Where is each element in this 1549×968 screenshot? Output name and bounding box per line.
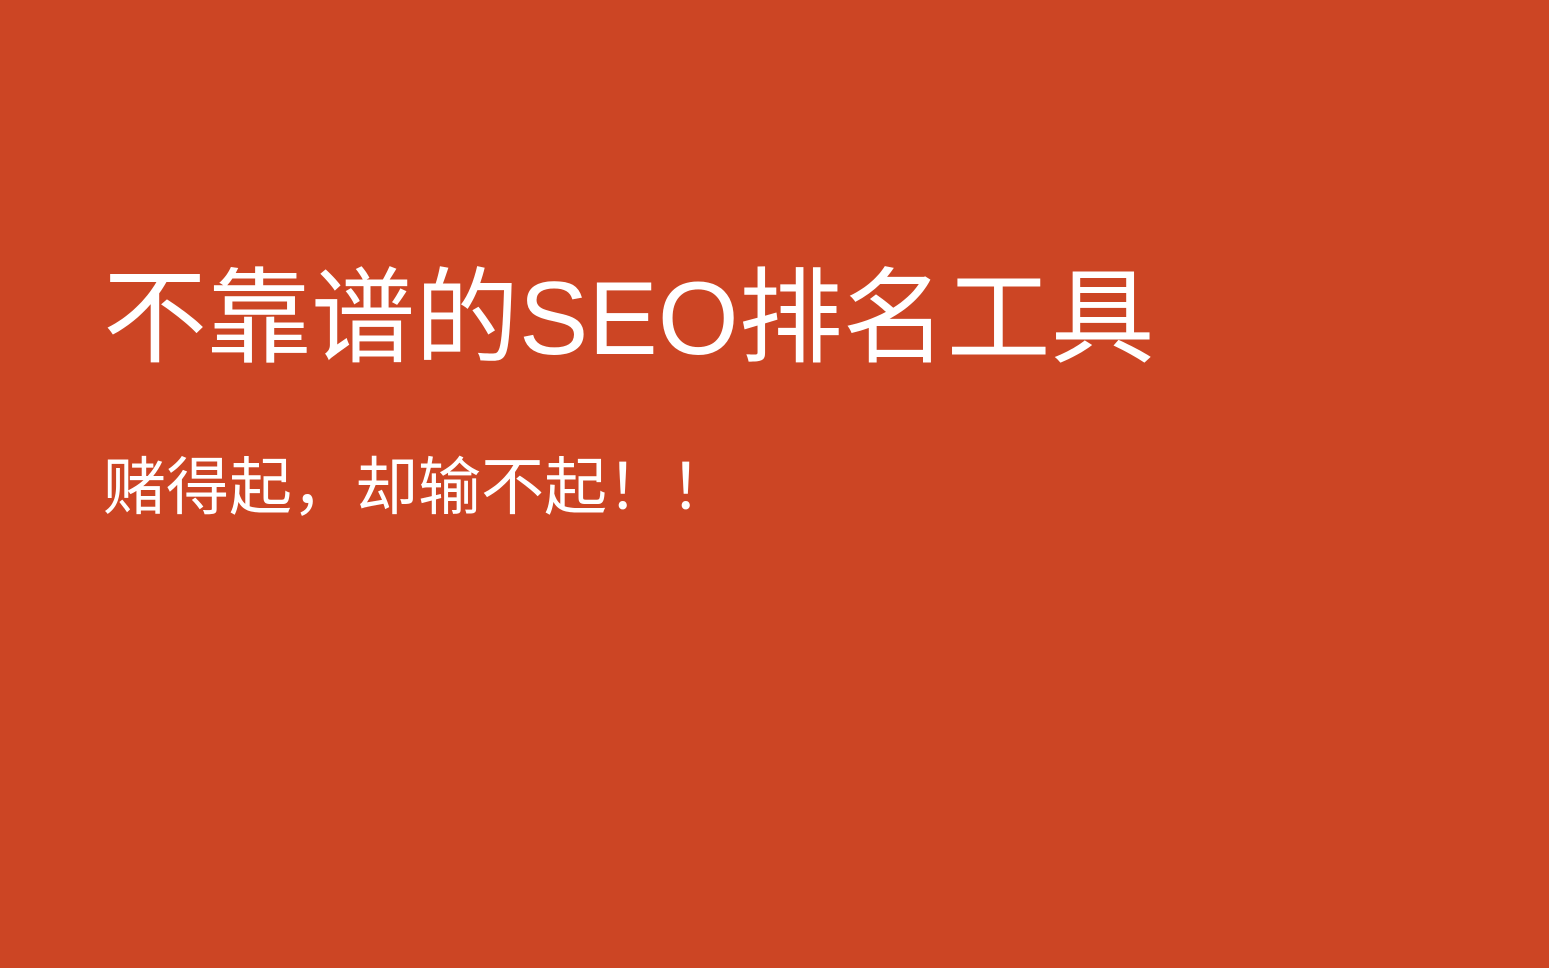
slide-text-block: 不靠谱的SEO排名工具 赌得起，却输不起！！ xyxy=(103,258,1443,527)
presentation-slide: 不靠谱的SEO排名工具 赌得起，却输不起！！ xyxy=(0,0,1549,968)
slide-subtitle: 赌得起，却输不起！！ xyxy=(103,449,1443,528)
slide-title: 不靠谱的SEO排名工具 xyxy=(103,258,1443,381)
